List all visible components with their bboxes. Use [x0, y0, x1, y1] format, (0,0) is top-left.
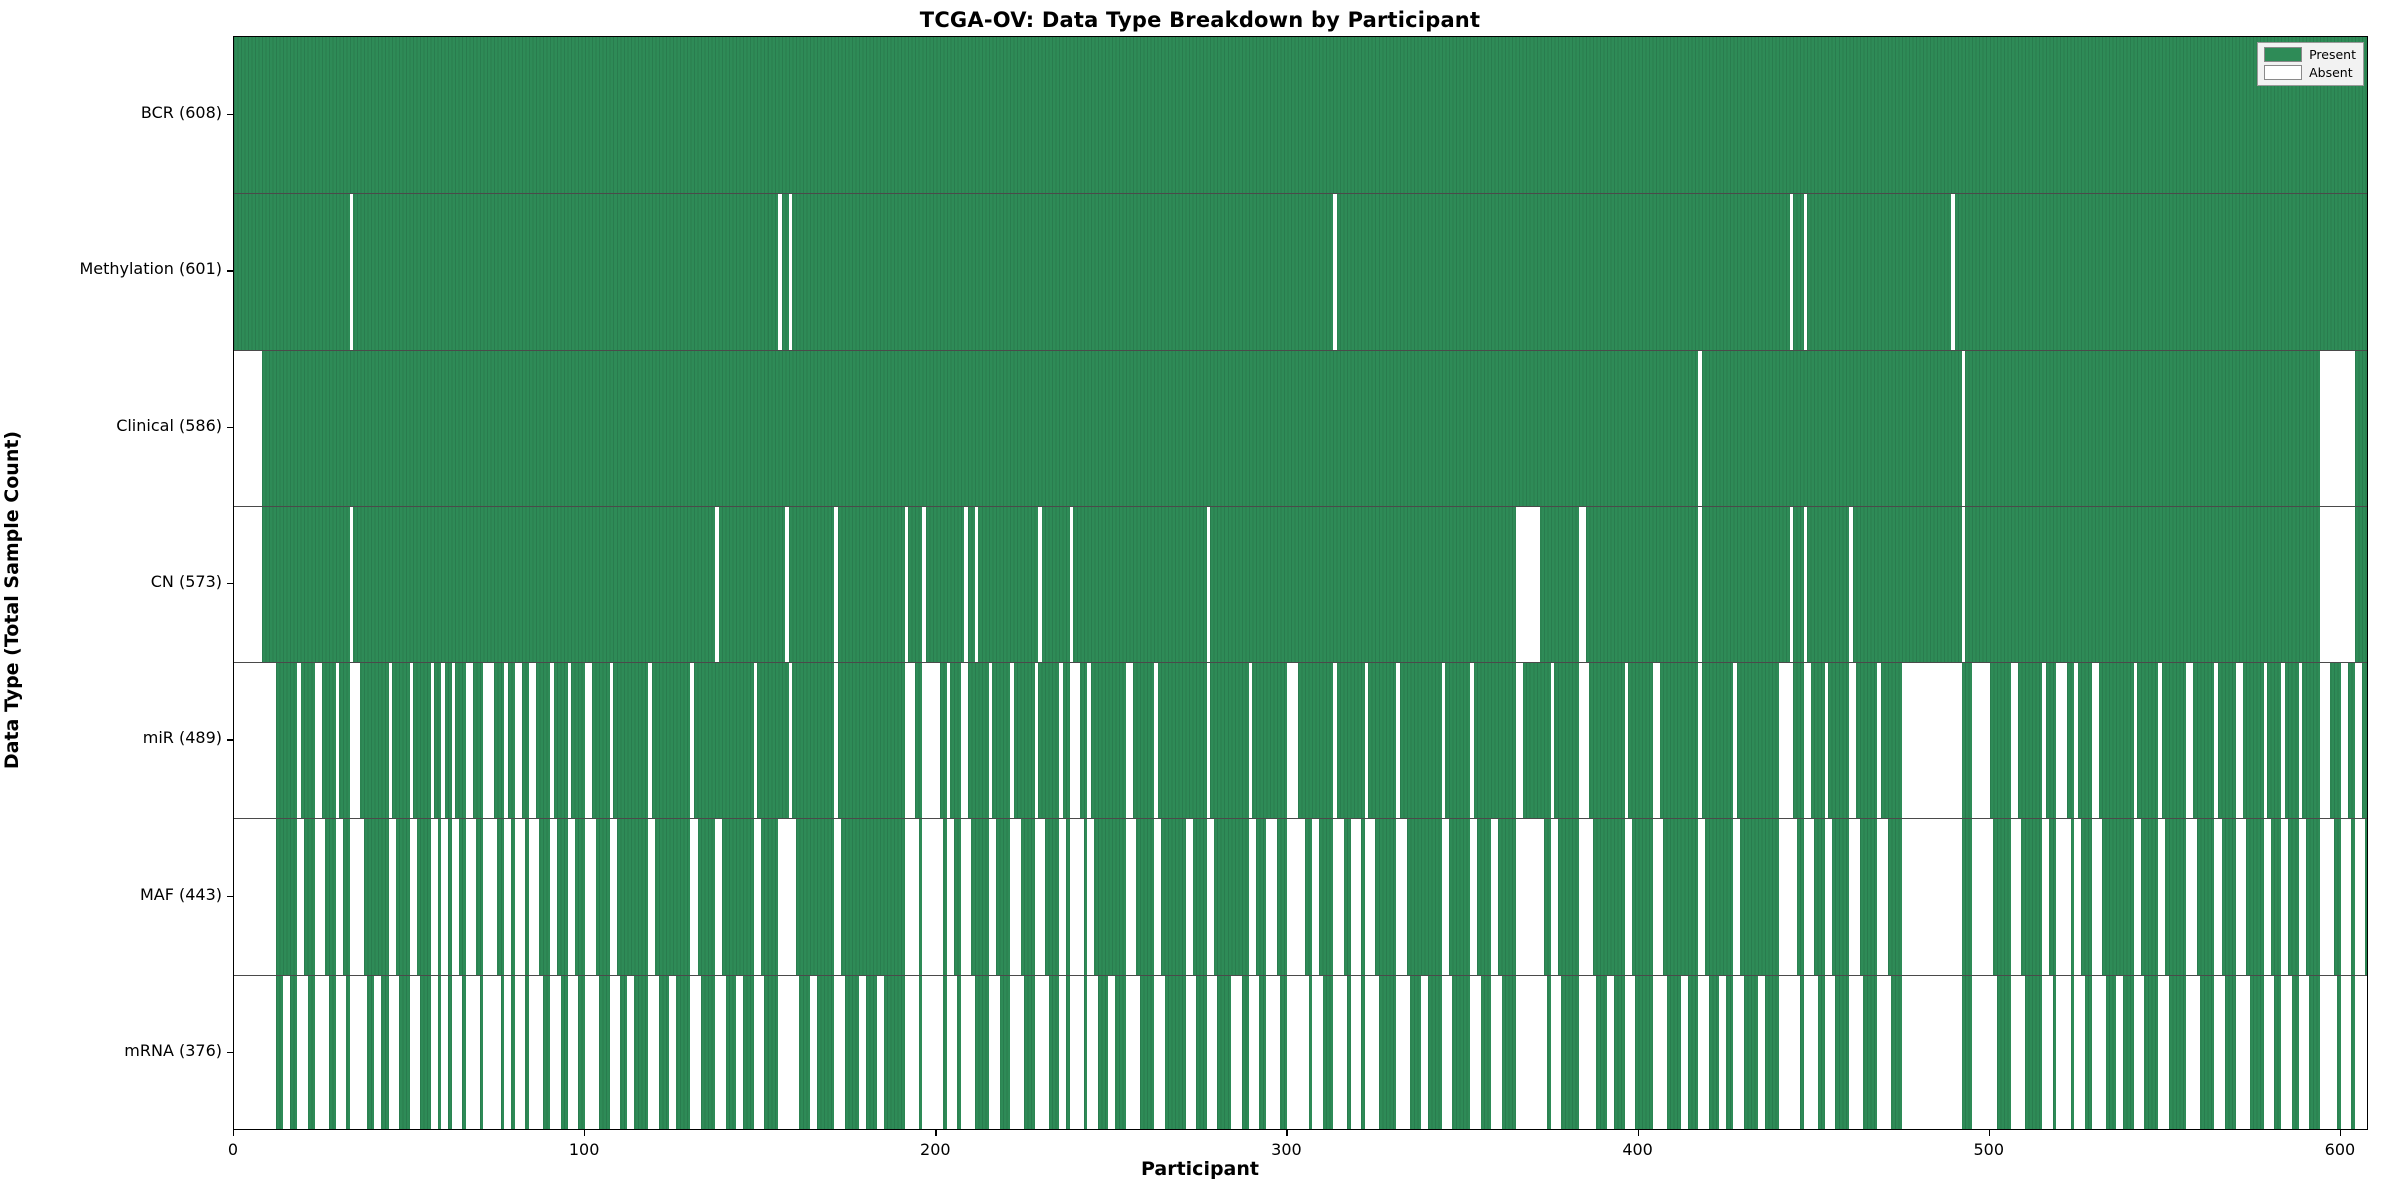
y-tick-label: CN (573): [151, 572, 222, 591]
heatmap-cell-absent: [1186, 976, 1197, 1130]
heatmap-cell-absent: [1653, 819, 1664, 975]
heatmap-cell-absent: [2355, 976, 2368, 1130]
x-tick-label: 200: [920, 1140, 951, 1159]
heatmap-cell-absent: [627, 976, 634, 1130]
x-tick-mark: [233, 1130, 234, 1136]
heatmap-cell-absent: [529, 819, 540, 975]
heatmap-cell-absent: [1653, 663, 1660, 819]
heatmap-cell-absent: [1070, 819, 1084, 975]
heatmap-cell-absent: [1779, 663, 1793, 819]
heatmap-cell-absent: [1312, 976, 1323, 1130]
heatmap-cell-absent: [550, 976, 561, 1130]
y-tick-label: Methylation (601): [79, 259, 222, 278]
heatmap-cell-absent: [2320, 507, 2355, 663]
heatmap-cell-absent: [810, 976, 817, 1130]
heatmap-cell-absent: [2042, 663, 2046, 819]
heatmap-cell-absent: [1087, 976, 1098, 1130]
heatmap-cell-absent: [1902, 663, 1962, 819]
heatmap-cell-absent: [1333, 663, 1337, 819]
x-axis-title: Participant: [0, 1158, 2400, 1180]
heatmap-cell-absent: [905, 976, 919, 1130]
heatmap-cell-absent: [2158, 663, 2162, 819]
heatmap-cell-absent: [715, 507, 719, 663]
heatmap-cell-absent: [568, 976, 579, 1130]
heatmap-cell-absent: [410, 663, 414, 819]
legend-swatch-present: [2264, 47, 2302, 62]
y-tick-label: BCR (608): [141, 103, 222, 122]
heatmap-cell-absent: [1249, 976, 1260, 1130]
heatmap-cell-absent: [234, 819, 276, 975]
heatmap-cell-absent: [1579, 663, 1590, 819]
heatmap-cell-absent: [1825, 819, 1832, 975]
x-tick-label: 400: [1622, 1140, 1653, 1159]
heatmap-cell-absent: [2056, 819, 2070, 975]
heatmap-cell-absent: [1972, 663, 1990, 819]
heatmap-cell-absent: [1035, 976, 1049, 1130]
heatmap-cell-absent: [1962, 351, 1966, 507]
heatmap-cell-absent: [989, 819, 996, 975]
heatmap-cell-absent: [690, 976, 701, 1130]
y-tick-mark: [227, 270, 233, 271]
heatmap-cell-absent: [754, 663, 758, 819]
heatmap-cell-absent: [1804, 819, 1815, 975]
column-texture: [234, 37, 2367, 193]
heatmap-row: [234, 506, 2367, 663]
heatmap-cell-absent: [1333, 194, 1337, 350]
heatmap-cell-absent: [283, 976, 290, 1130]
heatmap-cell-absent: [1186, 819, 1193, 975]
heatmap-cell-absent: [350, 663, 361, 819]
heatmap-cell-absent: [690, 819, 697, 975]
heatmap-cell-absent: [1470, 663, 1474, 819]
heatmap-cell-absent: [2281, 663, 2285, 819]
heatmap-cell-absent: [1333, 819, 1344, 975]
column-texture: [234, 351, 2367, 507]
y-tick-mark: [227, 1052, 233, 1053]
heatmap-cell-absent: [1681, 976, 1688, 1130]
heatmap-cell-absent: [315, 976, 329, 1130]
heatmap-cell-absent: [1154, 976, 1165, 1130]
heatmap-cell-absent: [1154, 663, 1158, 819]
heatmap-cell-absent: [585, 976, 599, 1130]
heatmap-cell-absent: [2116, 976, 2123, 1130]
heatmap-cell-absent: [1154, 819, 1161, 975]
heatmap-cell-absent: [1396, 819, 1407, 975]
heatmap-cell-absent: [466, 819, 477, 975]
heatmap-cell-absent: [2214, 819, 2221, 975]
heatmap-cell-absent: [754, 976, 765, 1130]
heatmap-cell-absent: [961, 663, 968, 819]
heatmap-row-cells: [234, 194, 2367, 350]
heatmap-cell-absent: [1351, 819, 1362, 975]
heatmap-cell-absent: [452, 976, 463, 1130]
heatmap-row-cells: [234, 507, 2367, 663]
heatmap-cell-absent: [947, 663, 951, 819]
y-tick-label: MAF (443): [140, 885, 222, 904]
heatmap-cell-absent: [961, 819, 972, 975]
heatmap-cell-absent: [1516, 507, 1541, 663]
x-tick-mark: [584, 1130, 585, 1136]
heatmap-cell-absent: [336, 976, 347, 1130]
heatmap-cell-absent: [2214, 976, 2225, 1130]
heatmap-cell-absent: [2092, 976, 2106, 1130]
heatmap-cell-absent: [1070, 976, 1084, 1130]
heatmap-cell-absent: [2320, 976, 2338, 1130]
x-tick-label: 100: [569, 1140, 600, 1159]
heatmap-cell-absent: [504, 663, 508, 819]
heatmap-cell-absent: [2056, 663, 2067, 819]
heatmap-cell-absent: [1779, 976, 1800, 1130]
heatmap-cell-absent: [2355, 663, 2362, 819]
y-axis-title: Data Type (Total Sample Count): [0, 0, 32, 1200]
heatmap-cell-absent: [834, 976, 845, 1130]
heatmap-cell-absent: [2299, 663, 2303, 819]
heatmap-cell-absent: [2355, 819, 2366, 975]
heatmap-cell-absent: [1551, 819, 1558, 975]
heatmap-cell-absent: [1579, 976, 1597, 1130]
legend-label-absent: Absent: [2309, 66, 2353, 79]
heatmap-cell-absent: [2186, 663, 2193, 819]
heatmap-cell-absent: [2074, 819, 2081, 975]
heatmap-cell-absent: [1972, 976, 1997, 1130]
heatmap-cell-absent: [1287, 976, 1308, 1130]
heatmap-cell-absent: [1207, 507, 1211, 663]
heatmap-cell-absent: [1070, 507, 1074, 663]
x-tick-label: 600: [2325, 1140, 2356, 1159]
heatmap-cell-absent: [2134, 663, 2138, 819]
heatmap-cell-absent: [1902, 819, 1962, 975]
heatmap-cell-absent: [648, 976, 659, 1130]
heatmap-cell-absent: [374, 976, 381, 1130]
heatmap-row-cells: [234, 819, 2367, 975]
heatmap-cell-absent: [1719, 976, 1726, 1130]
heatmap-cell-absent: [789, 663, 793, 819]
legend-swatch-absent: [2264, 65, 2302, 80]
heatmap-cell-absent: [922, 507, 926, 663]
y-tick-mark: [227, 114, 233, 115]
heatmap-row: [234, 818, 2367, 975]
heatmap-cell-absent: [504, 976, 511, 1130]
heatmap-cell-absent: [1625, 819, 1632, 975]
x-tick-mark: [1989, 1130, 1990, 1136]
heatmap-cell-absent: [1698, 663, 1702, 819]
heatmap-cell-absent: [2042, 976, 2053, 1130]
heatmap-cell-absent: [1010, 819, 1021, 975]
heatmap-cell-absent: [1849, 507, 1853, 663]
heatmap-cell-absent: [1249, 663, 1253, 819]
heatmap-cell-absent: [466, 976, 480, 1130]
heatmap-cell-absent: [1266, 819, 1277, 975]
heatmap-cell-absent: [1266, 976, 1280, 1130]
column-texture: [234, 194, 2367, 350]
heatmap-cell-absent: [2320, 819, 2334, 975]
heatmap-cell-absent: [610, 663, 614, 819]
heatmap-cell-absent: [754, 819, 761, 975]
heatmap-cell-absent: [1249, 819, 1256, 975]
heatmap-cell-absent: [1491, 819, 1498, 975]
heatmap-cell-absent: [1087, 819, 1094, 975]
heatmap-cell-absent: [1351, 976, 1362, 1130]
heatmap-cell-absent: [1877, 819, 1888, 975]
heatmap-cell-absent: [466, 663, 473, 819]
heatmap-cell-absent: [410, 819, 417, 975]
heatmap-cell-absent: [2158, 819, 2165, 975]
heatmap-row: [234, 350, 2367, 507]
heatmap-cell-absent: [1470, 819, 1477, 975]
y-tick-label: miR (489): [143, 728, 222, 747]
heatmap-row-cells: [234, 37, 2367, 193]
heatmap-cell-absent: [2158, 976, 2169, 1130]
heatmap-cell-absent: [1804, 663, 1811, 819]
heatmap-cell-absent: [297, 663, 301, 819]
heatmap-cell-absent: [1579, 819, 1593, 975]
heatmap-cell-absent: [441, 819, 448, 975]
heatmap-cell-absent: [1902, 976, 1962, 1130]
heatmap-cell-absent: [610, 976, 621, 1130]
heatmap-cell-absent: [1698, 976, 1709, 1130]
heatmap-cell-absent: [778, 194, 782, 350]
heatmap-cell-absent: [452, 819, 459, 975]
heatmap-cell-absent: [1038, 507, 1042, 663]
heatmap-cell-absent: [1035, 663, 1039, 819]
column-texture: [234, 663, 2367, 819]
heatmap-cell-absent: [431, 976, 438, 1130]
heatmap-cell-absent: [905, 507, 909, 663]
heatmap-cell-absent: [2264, 819, 2271, 975]
heatmap-cell-absent: [964, 507, 968, 663]
heatmap-cell-absent: [2134, 976, 2145, 1130]
heatmap-cell-absent: [234, 351, 262, 507]
y-tick-mark: [227, 896, 233, 897]
heatmap-cell-absent: [2236, 663, 2243, 819]
heatmap-cell-absent: [1491, 976, 1502, 1130]
heatmap-cell-absent: [1849, 819, 1860, 975]
heatmap-cell-absent: [2281, 976, 2292, 1130]
heatmap-cell-absent: [1126, 819, 1137, 975]
heatmap-cell-absent: [1207, 663, 1211, 819]
y-tick-mark: [227, 583, 233, 584]
heatmap-cell-absent: [1825, 976, 1836, 1130]
heatmap-cell-absent: [2320, 351, 2355, 507]
heatmap-cell-absent: [1442, 976, 1453, 1130]
heatmap-cell-absent: [1421, 976, 1428, 1130]
heatmap-cell-absent: [961, 976, 975, 1130]
heatmap-cell-absent: [2264, 663, 2268, 819]
heatmap-cell-absent: [1790, 507, 1794, 663]
x-tick-mark: [1638, 1130, 1639, 1136]
heatmap-cell-absent: [1231, 976, 1242, 1130]
heatmap-cell-absent: [483, 819, 497, 975]
heatmap-cell-absent: [389, 663, 393, 819]
heatmap-cell-absent: [1804, 507, 1808, 663]
heatmap-cell-absent: [1733, 663, 1737, 819]
x-tick-label: 500: [1973, 1140, 2004, 1159]
heatmap-row-cells: [234, 351, 2367, 507]
column-texture: [234, 507, 2367, 663]
heatmap-cell-absent: [2042, 819, 2049, 975]
heatmap-cell-absent: [1579, 507, 1586, 663]
heatmap-cell-absent: [2236, 819, 2247, 975]
heatmap-cell-absent: [834, 507, 838, 663]
heatmap-cell-absent: [1962, 507, 1966, 663]
heatmap-cell-absent: [2092, 663, 2099, 819]
heatmap-cell-absent: [350, 507, 354, 663]
heatmap-cell-absent: [234, 976, 276, 1130]
heatmap-cell-absent: [2074, 976, 2085, 1130]
x-tick-label: 300: [1271, 1140, 1302, 1159]
heatmap-cell-absent: [715, 976, 726, 1130]
heatmap-cell-absent: [515, 976, 526, 1130]
x-tick-label: 0: [228, 1140, 238, 1159]
heatmap-cell-absent: [1442, 819, 1449, 975]
heatmap-cell-absent: [2134, 819, 2141, 975]
heatmap-cell-absent: [989, 976, 1000, 1130]
heatmap-cell-absent: [515, 819, 526, 975]
heatmap-cell-absent: [1972, 819, 1993, 975]
heatmap-cell-absent: [550, 663, 554, 819]
heatmap-cell-absent: [1470, 976, 1481, 1130]
heatmap-cell-absent: [1516, 663, 1523, 819]
heatmap-row: [234, 193, 2367, 350]
heatmap-cell-absent: [529, 663, 536, 819]
heatmap-cell-absent: [1516, 819, 1544, 975]
heatmap-cell-absent: [1059, 976, 1066, 1130]
heatmap-cell-absent: [1698, 351, 1702, 507]
heatmap-cell-absent: [1287, 663, 1298, 819]
heatmap-cell-absent: [431, 663, 435, 819]
heatmap-cell-absent: [2011, 819, 2022, 975]
heatmap-cell-absent: [1035, 819, 1046, 975]
heatmap-cell-absent: [1804, 976, 1818, 1130]
heatmap-cell-absent: [1551, 663, 1555, 819]
heatmap-row: [234, 662, 2367, 819]
heatmap-cell-absent: [2186, 819, 2197, 975]
heatmap-cell-absent: [1625, 976, 1636, 1130]
heatmap-cell-absent: [1059, 663, 1063, 819]
heatmap-cell-absent: [1849, 976, 1863, 1130]
heatmap-cell-absent: [715, 819, 722, 975]
heatmap-cell-absent: [1365, 976, 1379, 1130]
heatmap-cell-absent: [2186, 976, 2200, 1130]
heatmap-cell-absent: [410, 976, 421, 1130]
heatmap-cell-absent: [2011, 976, 2025, 1130]
heatmap-row: [234, 975, 2367, 1130]
heatmap-cell-absent: [350, 976, 368, 1130]
x-tick-mark: [935, 1130, 936, 1136]
y-tick-mark: [227, 739, 233, 740]
heatmap-cell-absent: [648, 663, 652, 819]
heatmap-cell-absent: [568, 663, 572, 819]
heatmap-cell-absent: [1365, 663, 1369, 819]
heatmap-cell-absent: [2341, 663, 2348, 819]
heatmap-cell-absent: [1365, 819, 1376, 975]
heatmap-cell-absent: [1790, 194, 1794, 350]
heatmap-cell-absent: [297, 819, 304, 975]
heatmap-cell-absent: [2074, 663, 2078, 819]
heatmap-cell-absent: [389, 976, 400, 1130]
heatmap-cell-absent: [1877, 976, 1891, 1130]
heatmap-row-cells: [234, 976, 2367, 1130]
heatmap-cell-absent: [234, 663, 276, 819]
heatmap-cell-absent: [1396, 663, 1400, 819]
heatmap-cell-absent: [1551, 976, 1562, 1130]
chart-title: TCGA-OV: Data Type Breakdown by Particip…: [0, 8, 2400, 32]
heatmap-cell-absent: [1625, 663, 1629, 819]
heatmap-cell-absent: [2341, 976, 2352, 1130]
legend-item-present: Present: [2264, 47, 2356, 62]
heatmap-cell-absent: [1733, 976, 1744, 1130]
y-tick-label: Clinical (586): [116, 416, 222, 435]
heatmap-row: [234, 37, 2367, 193]
heatmap-plot: [233, 36, 2368, 1130]
heatmap-cell-absent: [1877, 663, 1881, 819]
heatmap-cell-absent: [778, 819, 796, 975]
heatmap-cell-absent: [1733, 819, 1740, 975]
heatmap-cell-absent: [1333, 976, 1347, 1130]
heatmap-cell-absent: [2056, 976, 2070, 1130]
heatmap-cell-absent: [947, 976, 958, 1130]
legend-item-absent: Absent: [2264, 65, 2356, 80]
heatmap-cell-absent: [922, 976, 943, 1130]
heatmap-cell-absent: [2341, 819, 2352, 975]
heatmap-cell-absent: [297, 976, 308, 1130]
heatmap-cell-absent: [834, 819, 841, 975]
heatmap-cell-absent: [610, 819, 617, 975]
heatmap-cell-absent: [1653, 976, 1667, 1130]
heatmap-cell-absent: [431, 819, 438, 975]
heatmap-cell-absent: [350, 194, 354, 350]
heatmap-cell-absent: [529, 976, 543, 1130]
heatmap-cell-absent: [1207, 819, 1214, 975]
heatmap-cell-absent: [1010, 976, 1024, 1130]
heatmap-cell-absent: [1126, 976, 1140, 1130]
heatmap-cell-absent: [778, 976, 799, 1130]
heatmap-cell-absent: [1779, 819, 1797, 975]
heatmap-cell-absent: [669, 976, 676, 1130]
heatmap-cell-absent: [1207, 976, 1218, 1130]
heatmap-cell-absent: [989, 663, 993, 819]
heatmap-cell-absent: [568, 819, 575, 975]
heatmap-cell-absent: [2281, 819, 2288, 975]
heatmap-cell-absent: [504, 819, 511, 975]
heatmap-cell-absent: [1442, 663, 1446, 819]
heatmap-cell-absent: [877, 976, 884, 1130]
heatmap-cell-absent: [1312, 819, 1319, 975]
heatmap-cell-absent: [1951, 194, 1955, 350]
heatmap-cell-absent: [1059, 819, 1066, 975]
heatmap-cell-absent: [2236, 976, 2250, 1130]
heatmap-cell-absent: [389, 819, 396, 975]
heatmap-cell-absent: [905, 819, 919, 975]
legend-label-present: Present: [2309, 48, 2356, 61]
heatmap-cell-absent: [1087, 663, 1091, 819]
heatmap-cell-absent: [1804, 194, 1808, 350]
heatmap-cell-absent: [648, 819, 655, 975]
heatmap-cell-absent: [483, 663, 494, 819]
y-tick-label: mRNA (376): [124, 1041, 222, 1060]
heatmap-cell-absent: [1516, 976, 1548, 1130]
heatmap-cell-absent: [947, 819, 954, 975]
heatmap-cell-absent: [1698, 507, 1702, 663]
heatmap-cell-absent: [1698, 819, 1705, 975]
heatmap-cell-absent: [2092, 819, 2103, 975]
heatmap-cell-absent: [515, 663, 522, 819]
heatmap-cell-absent: [483, 976, 501, 1130]
heatmap-cell-absent: [336, 819, 343, 975]
heatmap-cell-absent: [922, 819, 943, 975]
heatmap-cell-absent: [1758, 976, 1765, 1130]
heatmap-cell-absent: [2299, 976, 2310, 1130]
